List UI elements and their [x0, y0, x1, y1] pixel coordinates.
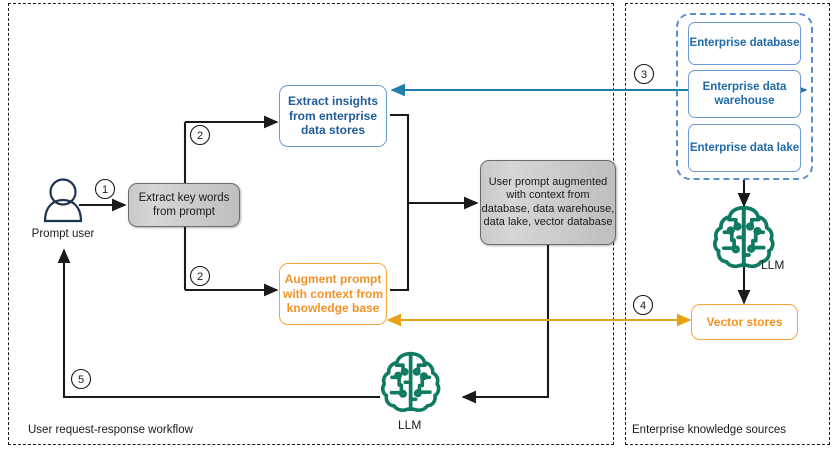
llm-label-right: LLM — [761, 258, 784, 272]
diagram-canvas: User request-response workflow Enterpris… — [0, 0, 836, 449]
llm-brain-icon-center — [383, 354, 439, 411]
llm-label-center: LLM — [398, 418, 421, 432]
llm-icon-layer — [0, 0, 836, 449]
